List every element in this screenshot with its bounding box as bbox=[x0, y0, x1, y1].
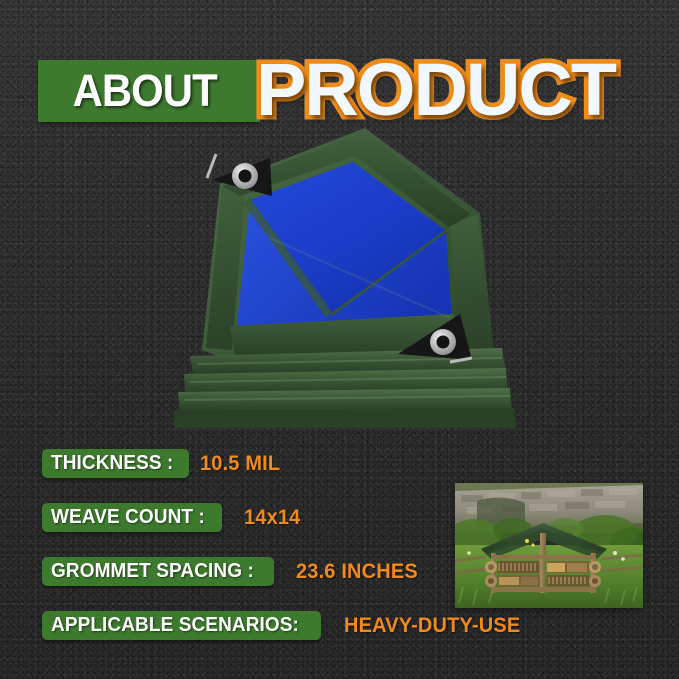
spec-label-thickness: THICKNESS : bbox=[51, 452, 173, 475]
garden-shelter-illustration bbox=[455, 483, 643, 608]
title-about: ABOUT bbox=[47, 62, 242, 120]
spec-row-applicable-scenarios: APPLICABLE SCENARIOS: HEAVY-DUTY-USE bbox=[0, 606, 679, 660]
spec-label-pill-applicable-scenarios: APPLICABLE SCENARIOS: bbox=[42, 611, 321, 640]
product-image-tarp bbox=[150, 118, 540, 428]
spec-value-thickness: 10.5 MIL bbox=[200, 449, 280, 478]
spec-label-pill-weave-count: WEAVE COUNT : bbox=[42, 503, 222, 532]
grommet-tie-top-left bbox=[207, 154, 216, 178]
tarp-fold-layer-4 bbox=[174, 408, 516, 428]
spec-value-weave-count: 14x14 bbox=[244, 503, 300, 532]
header: ABOUT PRODUCT bbox=[0, 24, 679, 128]
spec-value-grommet-spacing: 23.6 INCHES bbox=[296, 557, 418, 586]
spec-label-pill-grommet-spacing: GROMMET SPACING : bbox=[42, 557, 274, 586]
spec-label-weave-count: WEAVE COUNT : bbox=[51, 506, 205, 529]
grommet-hole-right bbox=[437, 336, 450, 349]
product-infographic: ABOUT PRODUCT bbox=[0, 0, 679, 679]
spec-label-applicable-scenarios: APPLICABLE SCENARIOS: bbox=[51, 614, 299, 637]
spec-label-grommet-spacing: GROMMET SPACING : bbox=[51, 560, 254, 583]
grommet-hole-top-left bbox=[239, 170, 252, 183]
tarp-illustration bbox=[150, 118, 540, 428]
spec-value-applicable-scenarios: HEAVY-DUTY-USE bbox=[344, 611, 520, 640]
scenario-image-garden-shelter bbox=[455, 483, 643, 608]
spec-label-pill-thickness: THICKNESS : bbox=[42, 449, 189, 478]
